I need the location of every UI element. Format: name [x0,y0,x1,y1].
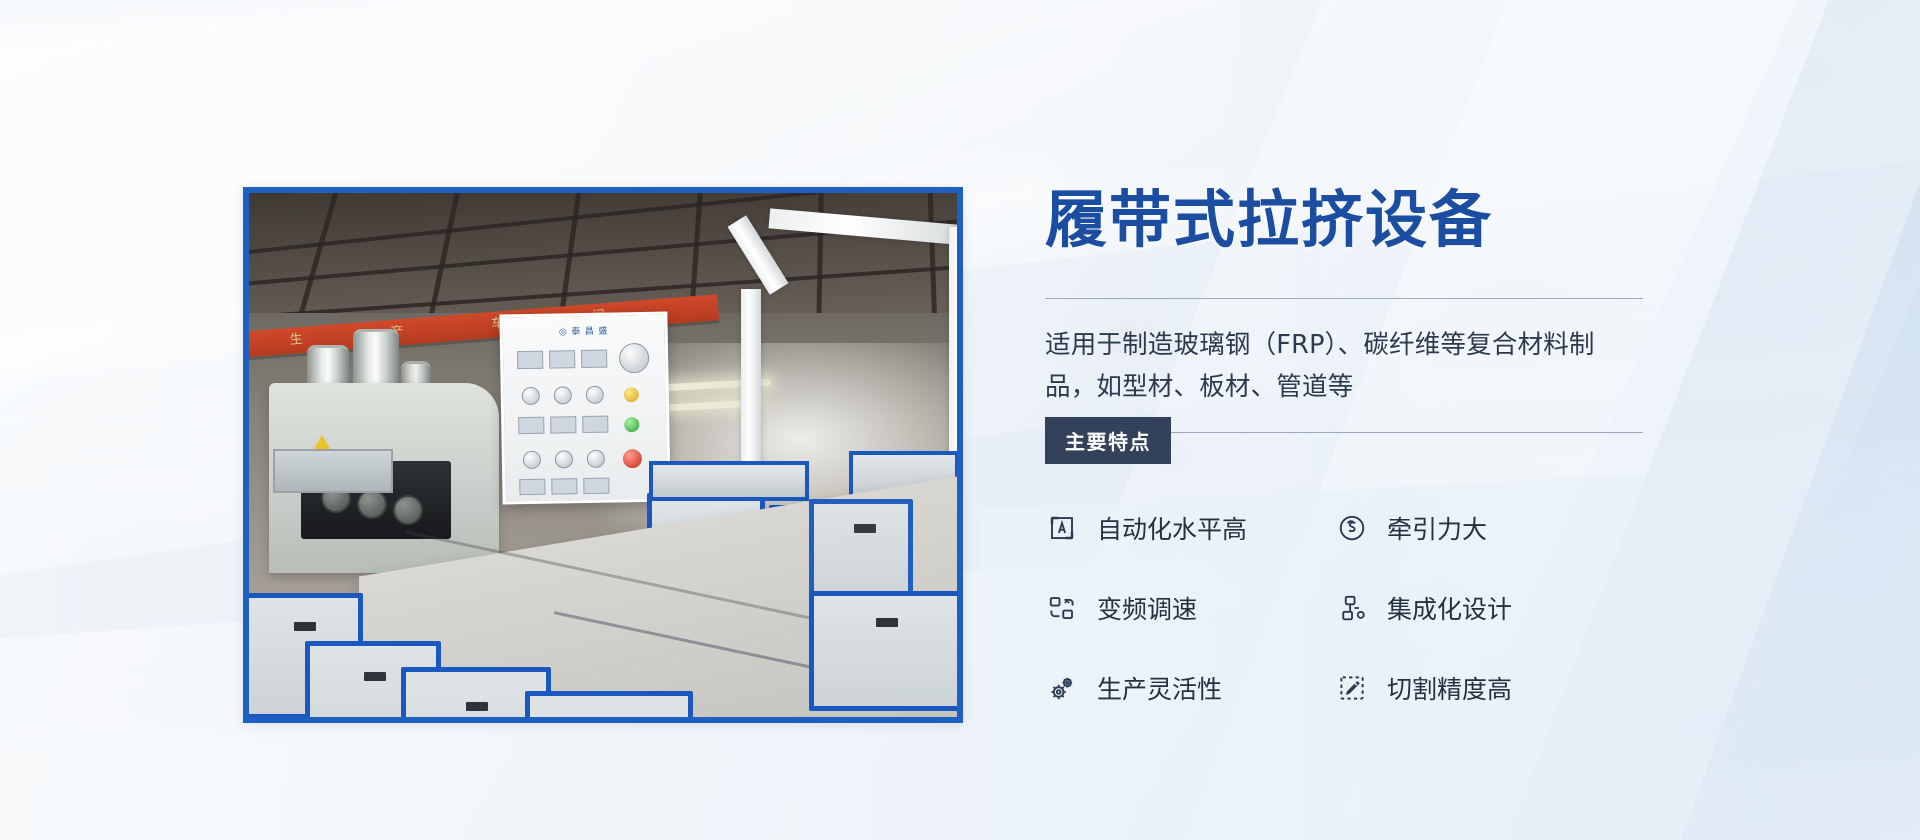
feature-item-flexibility[interactable]: 生产灵活性 [1045,670,1335,706]
photo-front-handle-5 [854,524,876,533]
photo-front-cabinet-6 [809,591,963,711]
photo-panel-brand: ◎ 泰 昌 盛 [503,323,665,339]
photo-roller-2 [357,489,387,519]
photo-meter-4 [518,417,544,434]
photo-meter-9 [583,478,609,494]
feature-item-cut-precision[interactable]: 切割精度高 [1335,670,1625,706]
status-badge: 主要特点 [1045,417,1171,464]
page-title: 履带式拉挤设备 [1045,185,1685,254]
photo-meter-8 [551,478,577,494]
feature-label: 生产灵活性 [1097,670,1222,706]
photo-front-cabinet-4 [525,691,693,723]
photo-front-handle-3 [466,702,488,711]
frequency-speed-icon [1045,591,1079,625]
feature-item-automation[interactable]: 自动化水平高 [1045,510,1335,546]
integrated-design-icon [1335,591,1369,625]
photo-meter-2 [549,350,575,368]
feature-item-integrated[interactable]: 集成化设计 [1335,590,1625,626]
photo-knob-6 [587,450,605,468]
photo-cabinet-top-box [649,461,809,501]
photo-front-handle-6 [876,618,898,627]
photo-knob-4 [523,451,541,469]
photo-meter-1 [517,351,543,369]
photo-meter-3 [581,350,607,368]
feature-item-traction[interactable]: 牵引力大 [1335,510,1625,546]
photo-meter-5 [550,416,576,433]
divider-top [1045,298,1643,299]
photo-lamp-green [624,417,639,432]
feature-label: 自动化水平高 [1097,510,1247,546]
photo-knob-2 [554,386,572,404]
automation-a-box-icon [1045,511,1079,545]
photo-front-handle-1 [294,622,316,631]
feature-label: 集成化设计 [1387,590,1512,626]
photo-knob-1 [522,387,540,405]
banner-content: 履带式拉挤设备 适用于制造玻璃钢（FRP）、碳纤维等复合材料制品，如型材、板材、… [1045,185,1685,706]
photo-roller-3 [393,495,423,525]
photo-control-panel: ◎ 泰 昌 盛 [499,312,670,505]
feature-label: 变频调速 [1097,590,1197,626]
photo-lamp-amber [624,387,639,402]
photo-front-handle-2 [364,672,386,681]
feature-item-frequency[interactable]: 变频调速 [1045,590,1335,626]
product-photo: 生 产 车 间 ◎ 泰 昌 盛 [243,187,963,723]
product-description: 适用于制造玻璃钢（FRP）、碳纤维等复合材料制品，如型材、板材、管道等 [1045,325,1645,408]
photo-meter-7 [519,479,545,495]
feature-label: 牵引力大 [1387,510,1487,546]
gears-icon [1045,671,1079,705]
photo-knob-3 [586,386,604,404]
feature-label: 切割精度高 [1387,670,1512,706]
photo-lamp-red [623,449,642,468]
photo-knob-5 [555,450,573,468]
product-banner: 生 产 车 间 ◎ 泰 昌 盛 [0,0,1920,840]
photo-gauge-large [619,343,650,374]
feature-list: 自动化水平高 牵引力大 [1045,510,1685,706]
cut-precision-pencil-icon [1335,671,1369,705]
photo-meter-6 [582,416,608,433]
traction-wave-circle-icon [1335,511,1369,545]
photo-extruder-window [273,449,393,493]
